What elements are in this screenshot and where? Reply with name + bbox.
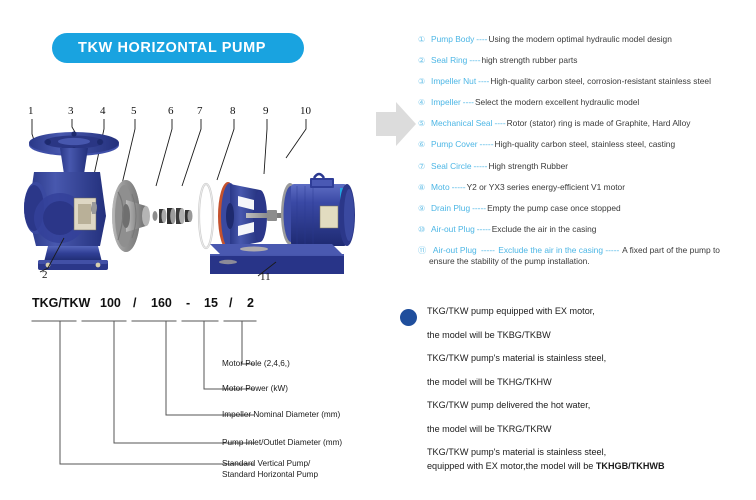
label-standard-pump-line2: Standard Horizontal Pump <box>222 470 318 481</box>
ex-motor-line: TKG/TKW pump equipped with EX motor, <box>427 306 747 317</box>
pump-spec-sheet: TKW HORIZONTAL PUMP <box>0 0 756 500</box>
feature-desc: High strength Rubber <box>488 161 568 172</box>
bullet-dot-icon <box>400 309 417 326</box>
feature-number: ⑧ <box>418 182 428 193</box>
label-standard-pump-line1: Standard Vertical Pump/ <box>222 459 310 470</box>
feature-name: Pump Body <box>431 34 474 45</box>
feature-item: ⑥ Pump Cover ----- High-quality carbon s… <box>418 139 754 150</box>
feature-name: Impeller Nut <box>431 76 476 87</box>
feature-item: ⑦ Seal Circle ----- High strength Rubber <box>418 161 754 172</box>
label-motor-pole: Motor Pole (2,4,6,) <box>222 359 290 370</box>
svg-text:5: 5 <box>131 105 137 117</box>
feature-dash: ---- <box>469 55 480 66</box>
feature-dash: ----- <box>477 224 491 235</box>
svg-text:7: 7 <box>197 105 203 117</box>
svg-text:9: 9 <box>263 105 269 117</box>
feature-name: Air-out Plug <box>431 224 475 235</box>
feature-name: Mechanical Seal <box>431 118 492 129</box>
ex-motor-note-lines: TKG/TKW pump equipped with EX motor, the… <box>427 306 747 485</box>
feature-item: ② Seal Ring ---- high strength rubber pa… <box>418 55 754 66</box>
feature-dash: ---- <box>476 34 487 45</box>
exploded-pump-assembly-image: 1 3 4 5 6 7 8 9 10 <box>14 96 374 286</box>
feature-desc-primary: Exclude the air in the casing <box>498 245 603 255</box>
page-title: TKW HORIZONTAL PUMP <box>52 40 266 56</box>
feature-desc: High-quality carbon steel, corrosion-res… <box>490 76 711 87</box>
feature-name: Drain Plug <box>431 203 470 214</box>
feature-number: ② <box>418 55 428 66</box>
ex-motor-line: TKG/TKW pump's material is stainless ste… <box>427 353 747 364</box>
feature-dash: ----- <box>452 182 466 193</box>
right-arrow-icon <box>376 100 416 148</box>
feature-name: Moto <box>431 182 450 193</box>
feature-item: ④ Impeller ---- Select the modern excell… <box>418 97 754 108</box>
feature-name: Seal Circle <box>431 161 472 172</box>
svg-text:10: 10 <box>300 105 312 117</box>
svg-text:8: 8 <box>230 105 236 117</box>
pump-body-part <box>24 131 119 270</box>
feature-number: ① <box>418 34 428 45</box>
ex-motor-last-text: equipped with EX motor,the model will be <box>427 461 596 471</box>
mechanical-seal-part <box>153 208 193 224</box>
svg-text:4: 4 <box>100 105 106 117</box>
seal-circle-part <box>199 184 213 248</box>
feature-dash: ----- <box>474 161 488 172</box>
feature-desc: Exclude the air in the casing <box>492 224 597 235</box>
feature-item: ① Pump Body ---- Using the modern optima… <box>418 34 754 45</box>
feature-name: Impeller <box>431 97 461 108</box>
svg-text:2: 2 <box>42 269 48 281</box>
feature-desc-line1: A fixed part of the pump to <box>622 245 720 255</box>
ex-motor-line: the model will be TKRG/TKRW <box>427 424 747 435</box>
ex-motor-line: the model will be TKBG/TKBW <box>427 330 747 341</box>
feature-number: ⑦ <box>418 161 428 172</box>
feature-item: ③ Impeller Nut ---- High-quality carbon … <box>418 76 754 87</box>
feature-desc: Select the modern excellent hydraulic mo… <box>475 97 639 108</box>
svg-text:1: 1 <box>28 105 34 117</box>
feature-dash: ---- <box>463 97 474 108</box>
title-banner: TKW HORIZONTAL PUMP <box>52 33 304 63</box>
feature-dash: ----- <box>481 245 495 255</box>
ex-motor-line-last: equipped with EX motor,the model will be… <box>427 461 747 472</box>
feature-number: ⑨ <box>418 203 428 214</box>
base-plate-part <box>210 244 344 274</box>
feature-item-last: ⑪ Air-out Plug ----- Exclude the air in … <box>418 245 754 268</box>
feature-number: ⑪ <box>418 245 428 257</box>
model-leader-lines <box>14 296 394 496</box>
feature-name: Seal Ring <box>431 55 467 66</box>
label-pump-inlet-outlet: Pump Inlet/Outlet Diameter (mm) <box>222 438 342 449</box>
feature-number: ⑥ <box>418 139 428 150</box>
model-designation-diagram: TKG/TKW 100 / 160 - 15 / 2 <box>14 296 394 496</box>
feature-number: ⑩ <box>418 224 428 235</box>
feature-legend: ① Pump Body ---- Using the modern optima… <box>418 34 754 278</box>
feature-number: ⑤ <box>418 118 428 129</box>
feature-dash: ----- <box>480 139 494 150</box>
feature-desc: Y2 or YX3 series energy-efficient V1 mot… <box>467 182 625 193</box>
ex-motor-line: TKG/TKW pump's material is stainless ste… <box>427 447 747 458</box>
feature-desc: Using the modern optimal hydraulic model… <box>488 34 671 45</box>
feature-name: Air-out Plug <box>433 245 477 255</box>
feature-number: ③ <box>418 76 428 87</box>
feature-desc: Empty the pump case once stopped <box>487 203 621 214</box>
svg-text:6: 6 <box>168 105 174 117</box>
svg-text:3: 3 <box>68 105 74 117</box>
feature-desc: high strength rubber parts <box>481 55 577 66</box>
label-impeller-diameter: Impeller Nominal Diameter (mm) <box>222 410 340 421</box>
feature-desc: Rotor (stator) ring is made of Graphite,… <box>507 118 691 129</box>
feature-item: ⑧ Moto ----- Y2 or YX3 series energy-eff… <box>418 182 754 193</box>
feature-name: Pump Cover <box>431 139 478 150</box>
feature-item: ⑤ Mechanical Seal ---- Rotor (stator) ri… <box>418 118 754 129</box>
feature-item: ⑩ Air-out Plug ----- Exclude the air in … <box>418 224 754 235</box>
feature-dash-2: ----- <box>605 245 619 255</box>
ex-motor-line: the model will be TKHG/TKHW <box>427 377 747 388</box>
ex-motor-last-model: TKHGB/TKHWB <box>596 461 665 471</box>
feature-dash: ----- <box>472 203 486 214</box>
feature-number: ④ <box>418 97 428 108</box>
feature-item: ⑨ Drain Plug ----- Empty the pump case o… <box>418 203 754 214</box>
feature-dash: ---- <box>494 118 505 129</box>
label-motor-power: Motor Power (kW) <box>222 384 288 395</box>
feature-dash: ---- <box>478 76 489 87</box>
ex-motor-line: TKG/TKW pump delivered the hot water, <box>427 400 747 411</box>
svg-text:11: 11 <box>260 271 271 283</box>
callout-numbers-top: 1 3 4 5 6 7 8 9 10 <box>28 105 312 117</box>
feature-desc-line2: ensure the stability of the pump install… <box>418 256 720 268</box>
feature-desc: High-quality carbon steel, stainless ste… <box>495 139 676 150</box>
